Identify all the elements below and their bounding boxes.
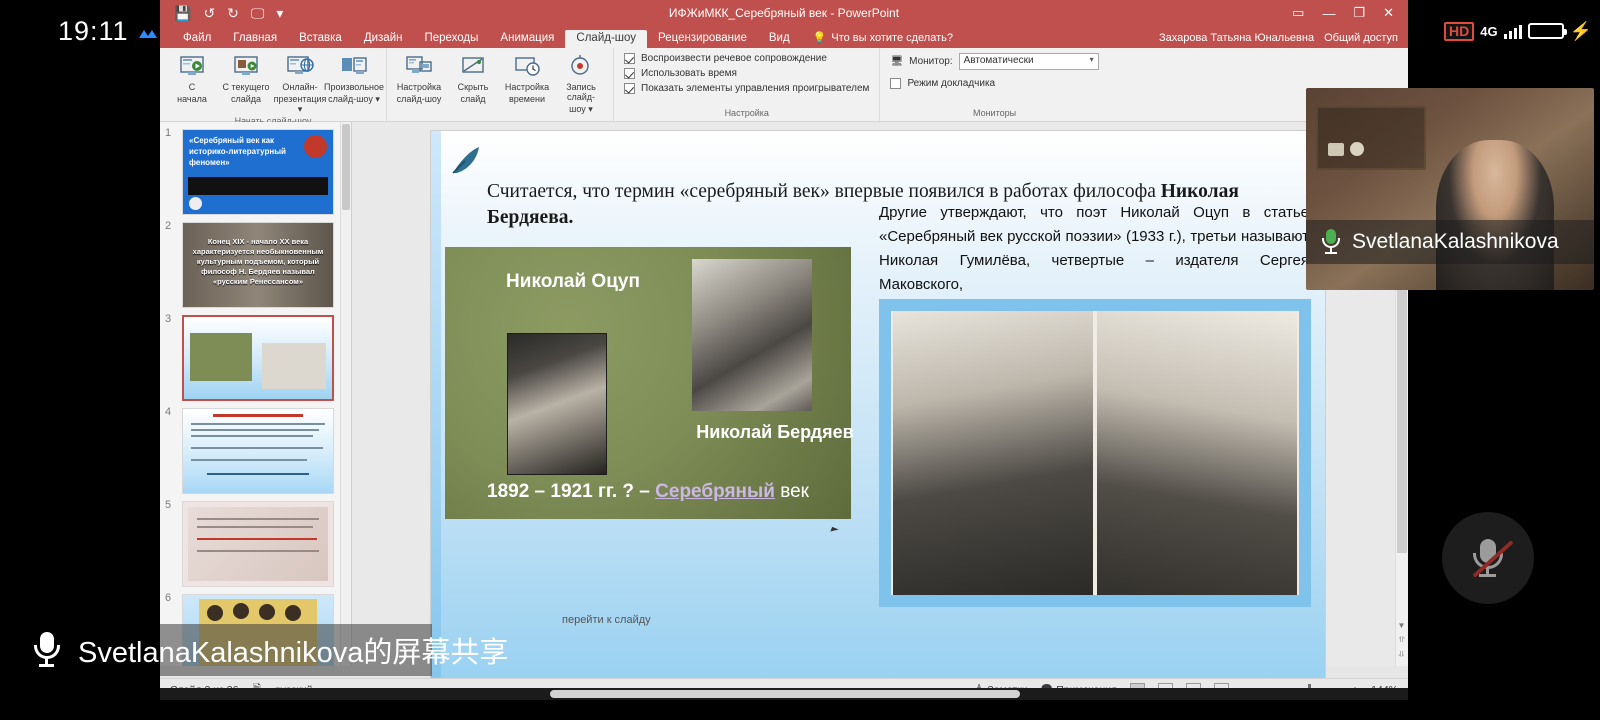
previous-slide-icon[interactable]: ⥣ xyxy=(1399,635,1405,645)
checkbox-narration-row[interactable]: Воспроизвести речевое сопровождение xyxy=(624,53,869,64)
lightbulb-icon: 💡 xyxy=(813,31,827,44)
portrait-nikolay-otsup xyxy=(507,333,607,475)
ribbon-group-monitors-label: Мониторы xyxy=(890,106,1098,121)
slide-heading-plain: Считается, что термин «серебряный век» в… xyxy=(487,181,1161,202)
share-button[interactable]: Общий доступ xyxy=(1324,32,1398,44)
signal-bars-icon xyxy=(1504,23,1522,39)
start-slideshow-icon[interactable]: 🖵 xyxy=(251,6,265,20)
tab-slideshow[interactable]: Слайд-шоу xyxy=(565,30,647,49)
thumbnail-slide-2[interactable]: 2 Конец XIX - начало XX века характеризу… xyxy=(182,222,343,308)
battery-icon xyxy=(1528,23,1564,39)
checkbox-media-controls[interactable] xyxy=(624,83,635,94)
account-area[interactable]: Захарова Татьяна Юнальевна Общий доступ xyxy=(1159,32,1398,44)
lightning-bolt-icon: ⚡ xyxy=(1570,22,1592,40)
quill-pen-icon xyxy=(449,143,483,177)
participant-name: SvetlanaKalashnikova xyxy=(1352,230,1559,254)
monitor-select[interactable]: Автоматически xyxy=(959,53,1099,70)
checkbox-timings-label: Использовать время xyxy=(641,68,737,79)
ribbon-group-monitors: 🖥 Монитор: Автоматически Режим докладчик… xyxy=(880,48,1108,121)
window-title: ИФЖиМКК_Серебряный век - PowerPoint xyxy=(160,6,1408,20)
btn-record-slideshow-line1: Запись слайд- xyxy=(555,82,607,102)
customize-qat-icon[interactable]: ▾ xyxy=(276,6,283,20)
custom-slideshow-icon xyxy=(339,54,369,80)
btn-from-beginning[interactable]: С начала xyxy=(166,52,218,114)
thumbnail-number-2: 2 xyxy=(165,220,171,232)
slide-left-accent-bar xyxy=(431,131,441,700)
screen-root: 19:11 HD 4G ⚡ 💾 ↺ ↻ 🖵 ▾ ИФЖиМКК_Серебрян… xyxy=(0,0,1600,720)
thumbnail-slide-5[interactable]: 5 xyxy=(182,501,343,587)
thumbnail-number-5: 5 xyxy=(165,499,171,511)
ribbon-display-options-icon[interactable]: ▭ xyxy=(1292,5,1304,21)
thumbnail-scrollbar-thumb[interactable] xyxy=(342,124,350,210)
tab-animations[interactable]: Анимация xyxy=(489,30,565,49)
slide-right-text: Другие утверждают, что поэт Николай Оцуп… xyxy=(879,201,1309,297)
thumbnail-image-2: Конец XIX - начало XX века характеризует… xyxy=(182,222,334,308)
checkbox-timings-row[interactable]: Использовать время xyxy=(624,68,869,79)
hd-badge: HD xyxy=(1444,22,1474,41)
thumbnail-image-1: «Серебряный век как историко-литературны… xyxy=(182,129,334,215)
btn-custom-slideshow[interactable]: Произвольное слайд-шоу ▾ xyxy=(328,52,380,114)
tab-review[interactable]: Рецензирование xyxy=(647,30,758,49)
btn-setup-slideshow-line2: слайд-шоу xyxy=(397,94,442,104)
screen-share-banner-text: SvetlanaKalashnikova的屏幕共享 xyxy=(78,629,508,671)
checkbox-media-controls-label: Показать элементы управления проигрывате… xyxy=(641,83,869,94)
hide-slide-icon xyxy=(458,54,488,80)
tell-me-label: Что вы хотите сделать? xyxy=(831,32,953,44)
mic-muted-icon xyxy=(1473,537,1503,579)
checkbox-narration-label: Воспроизвести речевое сопровождение xyxy=(641,53,827,64)
thumbnail-image-3 xyxy=(182,315,334,401)
thumbnail-scrollbar[interactable] xyxy=(340,122,351,666)
tab-file[interactable]: Файл xyxy=(172,30,222,49)
btn-custom-slideshow-line1: Произвольное xyxy=(324,82,384,92)
checkbox-narration[interactable] xyxy=(624,53,635,64)
tab-view[interactable]: Вид xyxy=(758,30,801,49)
mic-icon-green xyxy=(1322,229,1340,255)
scroll-down-icon[interactable]: ▼ xyxy=(1398,621,1406,630)
monitor-icon: 🖥 xyxy=(890,56,903,67)
window-controls[interactable]: ▭ — ❐ ✕ xyxy=(1292,0,1402,26)
rehearse-timings-icon xyxy=(512,54,542,80)
btn-record-slideshow-line2: шоу ▾ xyxy=(569,104,593,114)
participant-name-bar: SvetlanaKalashnikova xyxy=(1306,220,1594,264)
from-current-slide-icon xyxy=(231,54,261,80)
photo-pair-inner xyxy=(891,311,1299,595)
checkbox-presenter-view[interactable] xyxy=(890,78,901,89)
mute-toggle-button[interactable] xyxy=(1442,512,1534,604)
thumbnail-slide-4[interactable]: 4 xyxy=(182,408,343,494)
shared-powerpoint-window: 💾 ↺ ↻ 🖵 ▾ ИФЖиМКК_Серебряный век - Power… xyxy=(160,0,1408,700)
monitor-row[interactable]: 🖥 Монитор: Автоматически xyxy=(890,53,1098,70)
slide-editing-area[interactable]: Считается, что термин «серебряный век» в… xyxy=(352,122,1408,666)
phone-status-icons: HD 4G ⚡ xyxy=(1444,18,1592,44)
from-beginning-icon xyxy=(177,54,207,80)
ribbon-tabs[interactable]: Файл Главная Вставка Дизайн Переходы Ани… xyxy=(160,26,1408,48)
caption-highlight: Серебряный xyxy=(655,481,775,502)
setup-slideshow-icon xyxy=(404,54,434,80)
ribbon-group-start-slideshow: С начала С текущего слайда xyxy=(160,48,387,121)
btn-custom-slideshow-line2: слайд-шоу ▾ xyxy=(328,94,380,104)
mouse-cursor xyxy=(830,527,838,534)
thumbnail-number-4: 4 xyxy=(165,406,171,418)
btn-present-online-line2: презентация ▾ xyxy=(274,94,327,114)
next-slide-icon[interactable]: ⥥ xyxy=(1399,650,1405,660)
portrait-poet-right xyxy=(1097,311,1297,595)
btn-setup-slideshow[interactable]: Настройка слайд-шоу xyxy=(393,52,445,114)
ribbon-group-setup: Настройка слайд-шоу Скрыть слайд xyxy=(387,48,614,121)
thumbnail-image-4 xyxy=(182,408,334,494)
caption-tail: век xyxy=(775,481,809,502)
undo-icon[interactable]: ↺ xyxy=(203,6,215,20)
btn-rehearse-timings-line2: времени xyxy=(509,94,545,104)
caption-dates: 1892 – 1921 гг. ? – xyxy=(487,481,655,502)
save-icon[interactable]: 💾 xyxy=(174,6,191,20)
slide-photo-pair-box xyxy=(879,299,1311,607)
checkbox-media-controls-row[interactable]: Показать элементы управления проигрывате… xyxy=(624,83,869,94)
account-name: Захарова Татьяна Юнальевна xyxy=(1159,32,1314,44)
portrait-nikolay-berdyaev xyxy=(692,259,812,411)
monitor-label: Монитор: xyxy=(909,56,952,67)
slide-scroll-arrows[interactable]: ▼ ⥣ ⥥ xyxy=(1395,618,1408,666)
portrait-poet-left xyxy=(893,311,1093,595)
thumbnail-image-5 xyxy=(182,501,334,587)
ribbon-group-settings: Воспроизвести речевое сопровождение Испо… xyxy=(614,48,880,121)
thumbnail-number-1: 1 xyxy=(165,127,171,139)
quick-access-toolbar[interactable]: 💾 ↺ ↻ 🖵 ▾ xyxy=(174,6,283,20)
ribbon: С начала С текущего слайда xyxy=(160,48,1408,122)
powerpoint-title-bar: 💾 ↺ ↻ 🖵 ▾ ИФЖиМКК_Серебряный век - Power… xyxy=(160,0,1408,26)
tab-insert[interactable]: Вставка xyxy=(288,30,353,49)
btn-setup-slideshow-line1: Настройка xyxy=(397,82,441,92)
workspace: 1 «Серебряный век как историко-литератур… xyxy=(160,122,1408,700)
record-slideshow-icon xyxy=(566,54,596,80)
btn-from-current-slide[interactable]: С текущего слайда xyxy=(220,52,272,114)
goto-slide-label[interactable]: перейти к слайду xyxy=(562,614,651,626)
checkbox-presenter-view-row[interactable]: Режим докладчика xyxy=(890,78,1098,89)
participant-video-image xyxy=(1436,140,1554,290)
thumbnail-number-6: 6 xyxy=(165,592,171,604)
green-portrait-box: Николай Оцуп Николай Бердяев 1892 – 1921… xyxy=(445,247,851,519)
network-label: 4G xyxy=(1480,24,1497,39)
btn-hide-slide-line1: Скрыть xyxy=(458,82,489,92)
redo-icon[interactable]: ↻ xyxy=(227,6,239,20)
shared-screen-scrollbar-thumb[interactable] xyxy=(550,690,1020,698)
restore-icon[interactable]: ❐ xyxy=(1353,5,1365,21)
btn-present-online[interactable]: Онлайн- презентация ▾ xyxy=(274,52,326,114)
tell-me-box[interactable]: 💡 Что вы хотите сделать? xyxy=(813,31,953,48)
checkbox-presenter-view-label: Режим докладчика xyxy=(907,78,995,89)
btn-from-beginning-line1: С xyxy=(189,82,196,92)
btn-from-beginning-line2: начала xyxy=(177,94,207,104)
status-clock: 19:11 xyxy=(58,16,129,47)
thumbnail-slide-3[interactable]: 3 xyxy=(182,315,343,401)
btn-hide-slide-line2: слайд xyxy=(460,94,485,104)
tab-home[interactable]: Главная xyxy=(222,30,288,49)
mic-icon xyxy=(34,632,60,668)
ribbon-group-settings-label: Настройка xyxy=(624,106,869,121)
shared-screen-horizontal-scrollbar[interactable] xyxy=(160,688,1408,700)
btn-record-slideshow[interactable]: Запись слайд- шоу ▾ xyxy=(555,52,607,114)
checkbox-timings[interactable] xyxy=(624,68,635,79)
btn-from-current-line1: С текущего xyxy=(223,82,270,92)
slide-thumbnail-pane[interactable]: 1 «Серебряный век как историко-литератур… xyxy=(160,122,352,666)
screen-share-banner: SvetlanaKalashnikova的屏幕共享 xyxy=(0,624,532,676)
thumbnail-number-3: 3 xyxy=(165,313,171,325)
btn-from-current-line2: слайда xyxy=(231,94,261,104)
green-box-name-left: Николай Оцуп xyxy=(493,269,653,294)
zoom-logo-icon xyxy=(138,28,158,42)
close-icon[interactable]: ✕ xyxy=(1383,5,1394,21)
btn-rehearse-timings-line1: Настройка xyxy=(505,82,549,92)
btn-hide-slide[interactable]: Скрыть слайд xyxy=(447,52,499,114)
background-shelf xyxy=(1316,106,1426,170)
minimize-icon[interactable]: — xyxy=(1322,6,1335,21)
tab-transitions[interactable]: Переходы xyxy=(413,30,489,49)
background-cup-2 xyxy=(1350,142,1364,156)
tab-design[interactable]: Дизайн xyxy=(353,30,414,49)
thumbnail-slide-1[interactable]: 1 «Серебряный век как историко-литератур… xyxy=(182,129,343,215)
background-cup xyxy=(1328,143,1344,156)
btn-rehearse-timings[interactable]: Настройка времени xyxy=(501,52,553,114)
btn-present-online-line1: Онлайн- xyxy=(282,82,317,92)
green-box-caption: 1892 – 1921 гг. ? – Серебряный век xyxy=(445,481,851,503)
green-box-name-right: Николай Бердяев xyxy=(695,421,855,444)
present-online-icon xyxy=(285,54,315,80)
participant-video-panel[interactable]: SvetlanaKalashnikova xyxy=(1306,88,1594,290)
